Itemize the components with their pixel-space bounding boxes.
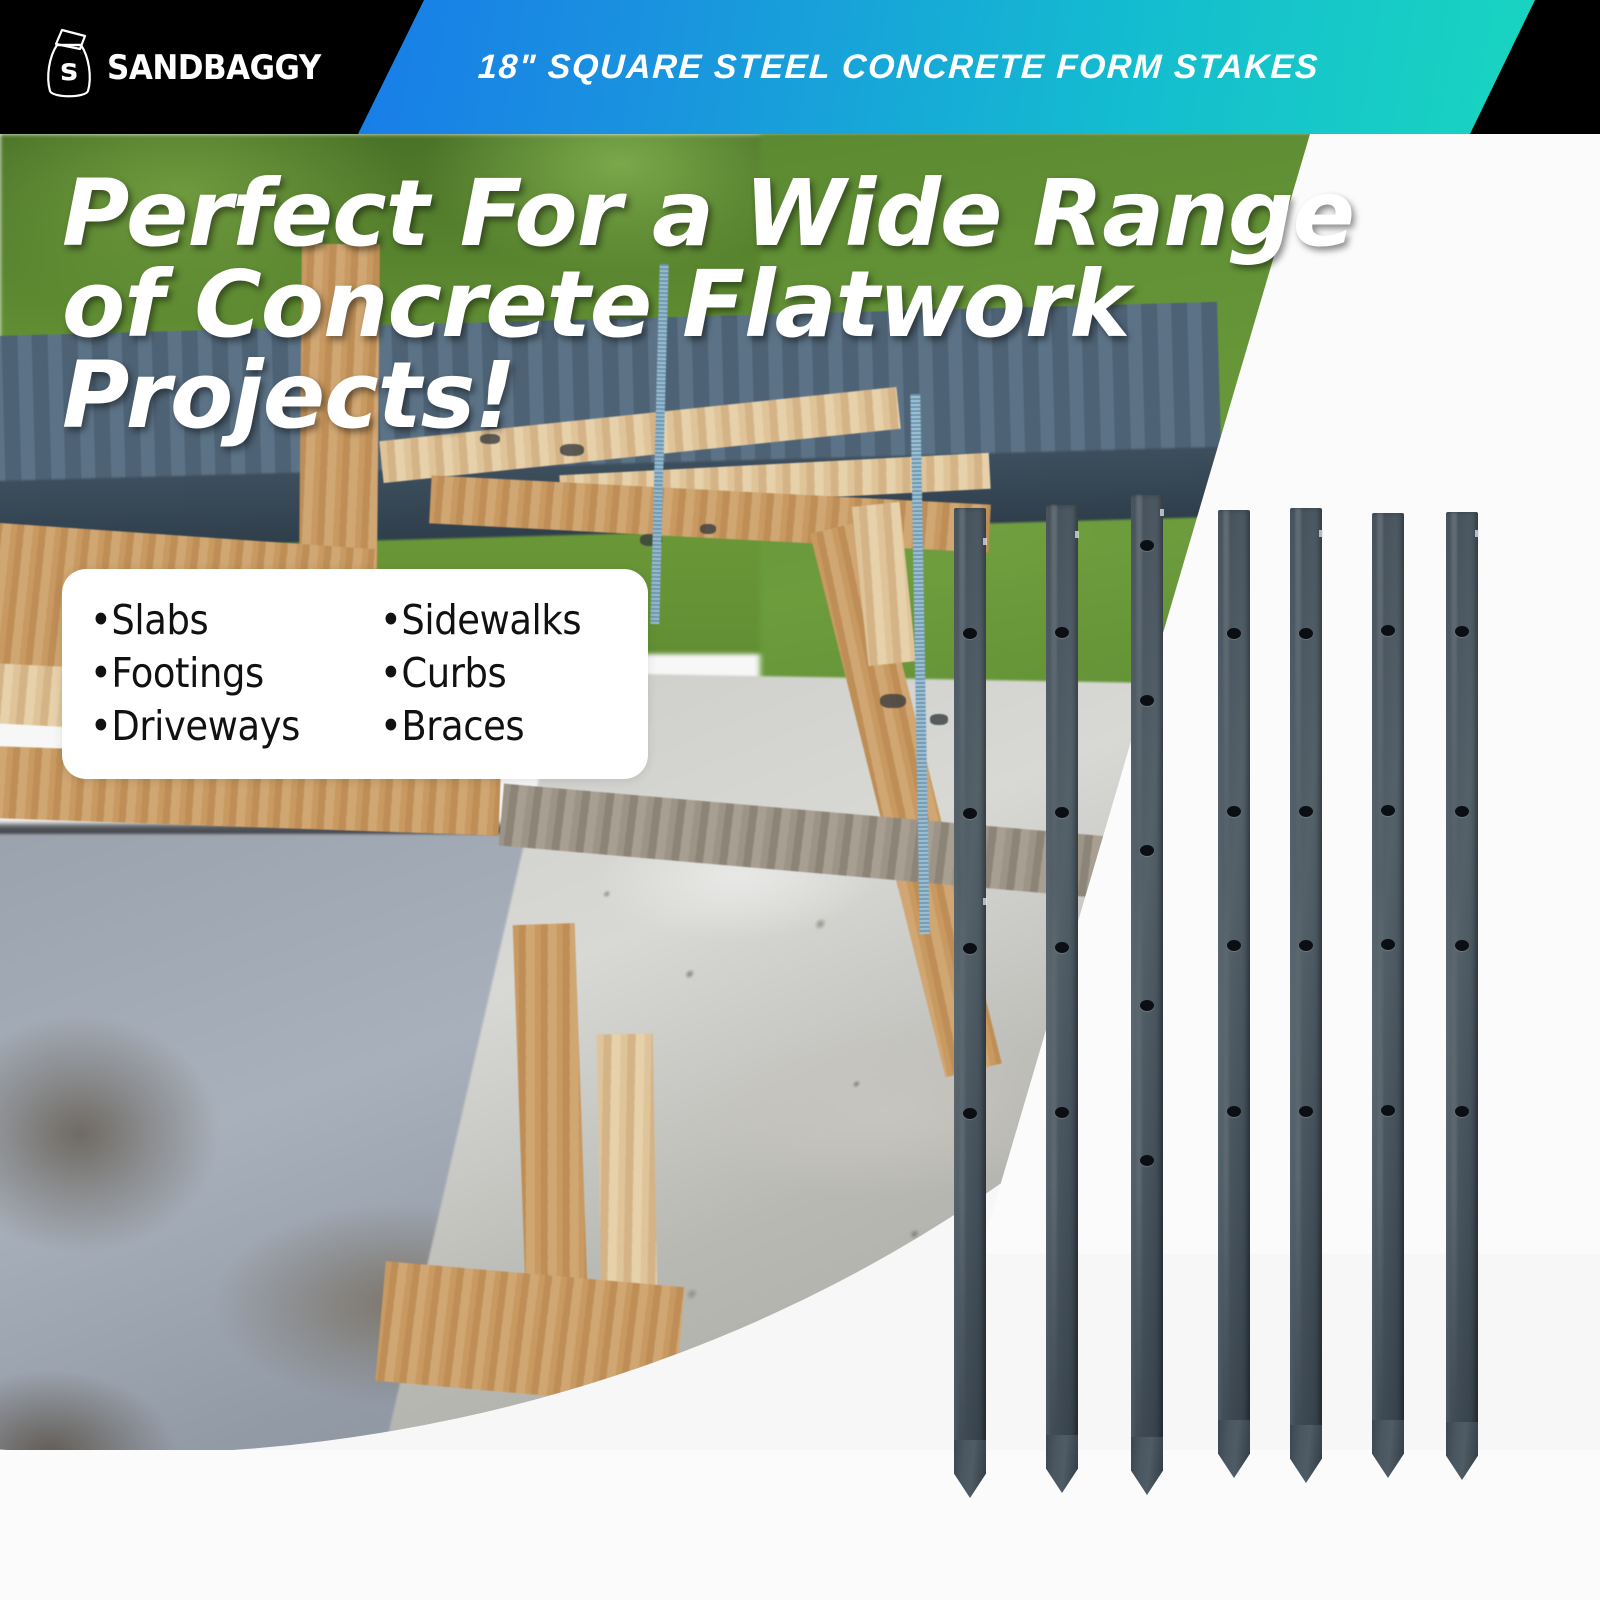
bullet-marker: • [90,596,111,644]
svg-text:s: s [60,53,78,88]
list-item-label: Sidewalks [401,596,581,644]
bottom-white-area [0,1450,1600,1600]
applications-card: •Slabs •Footings •Driveways •Sidewalks •… [62,569,648,779]
product-title: 18" SQUARE STEEL CONCRETE FORM STAKES [477,48,1320,87]
list-item: •Sidewalks [380,598,640,644]
applications-column-right: •Sidewalks •Curbs •Braces [380,593,640,755]
bullet-marker: • [380,649,401,697]
page-title: Perfect For a Wide Range of Concrete Fla… [62,168,1402,441]
list-item-label: Driveways [111,702,300,750]
gravel-speck [930,714,948,725]
list-item-label: Footings [111,649,263,697]
sandbag-icon: s [44,27,94,101]
gravel-speck [960,654,980,666]
bullet-marker: • [380,596,401,644]
bullet-marker: • [90,649,111,697]
applications-column-left: •Slabs •Footings •Driveways [90,593,380,755]
headline-line-3: Projects! [62,350,1402,441]
gravel-speck [560,444,584,456]
list-item: •Driveways [90,704,380,750]
bullet-marker: • [380,702,401,750]
list-item: •Footings [90,651,380,697]
brand-logo-text: SANDBAGGY [107,40,321,88]
list-item-label: Curbs [401,649,506,697]
gravel-speck [700,524,716,534]
list-item-label: Braces [401,702,524,750]
list-item: •Curbs [380,651,640,697]
headline-line-2: of Concrete Flatwork [62,259,1402,350]
list-item: •Braces [380,704,640,750]
header-banner: s SANDBAGGY 18" SQUARE STEEL CONCRETE FO… [0,0,1600,134]
list-item: •Slabs [90,598,380,644]
list-item-label: Slabs [111,596,208,644]
brand-logo[interactable]: s SANDBAGGY [44,27,321,101]
gravel-speck [880,694,906,708]
bullet-marker: • [90,702,111,750]
marketing-graphic: Perfect For a Wide Range of Concrete Fla… [0,0,1600,1600]
headline-line-1: Perfect For a Wide Range [62,168,1402,259]
